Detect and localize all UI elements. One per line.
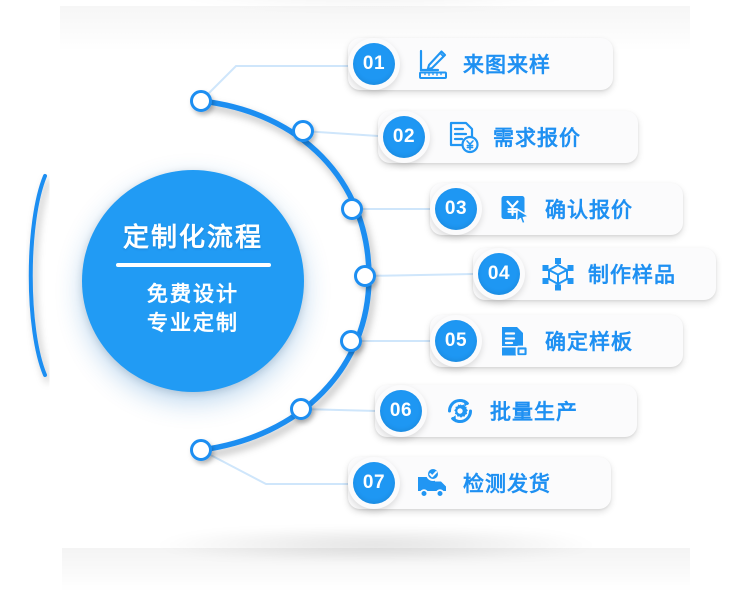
step-badge-holder: 06 xyxy=(375,385,427,437)
step-item-01[interactable]: 01来图来样 xyxy=(348,38,613,90)
hub-subtitle-line-1: 免费设计 xyxy=(147,281,239,309)
step-item-02[interactable]: 02需求报价 xyxy=(378,111,638,163)
step-badge-holder: 05 xyxy=(430,315,482,367)
arc-node-01 xyxy=(192,92,211,111)
step-pill[interactable]: 04制作样品 xyxy=(473,248,716,300)
cube-network-icon xyxy=(541,257,575,291)
pencil-ruler-icon xyxy=(416,47,450,81)
step-number-badge: 02 xyxy=(383,116,425,158)
arc-node-05 xyxy=(342,332,361,351)
step-label: 确认报价 xyxy=(545,194,633,224)
step-item-05[interactable]: 05确定样板 xyxy=(430,315,683,367)
step-item-07[interactable]: 07检测发货 xyxy=(348,457,611,509)
step-pill-body: 需求报价 xyxy=(424,111,607,163)
template-file-icon xyxy=(498,324,532,358)
hub-subtitle-line-2: 专业定制 xyxy=(147,310,239,338)
hub-title: 定制化流程 xyxy=(123,224,263,250)
process-hub: 定制化流程 免费设计 专业定制 xyxy=(82,170,304,392)
step-pill[interactable]: 07检测发货 xyxy=(348,457,611,509)
step-pill[interactable]: 01来图来样 xyxy=(348,38,613,90)
step-number-badge: 03 xyxy=(435,188,477,230)
step-label: 来图来样 xyxy=(463,49,551,79)
yuan-cursor-icon xyxy=(498,192,532,226)
step-label: 批量生产 xyxy=(490,396,578,426)
connector-line-01 xyxy=(201,66,352,101)
arc-node-02 xyxy=(294,122,313,141)
arc-node-03 xyxy=(343,200,362,219)
step-pill-body: 确定样板 xyxy=(476,315,659,367)
connector-line-04 xyxy=(365,274,473,276)
step-label: 检测发货 xyxy=(463,468,551,498)
step-pill[interactable]: 02需求报价 xyxy=(378,111,638,163)
step-label: 制作样品 xyxy=(588,259,676,289)
hub-divider xyxy=(116,263,271,267)
step-label: 需求报价 xyxy=(493,122,581,152)
step-pill-body: 检测发货 xyxy=(394,457,577,509)
step-number-badge: 04 xyxy=(478,253,520,295)
step-item-03[interactable]: 03确认报价 xyxy=(430,183,683,235)
step-item-06[interactable]: 06批量生产 xyxy=(375,385,637,437)
truck-check-icon xyxy=(416,466,450,500)
infographic-canvas: 定制化流程 免费设计 专业定制 01来图来样02需求报价03确认报价04制作样品… xyxy=(0,0,750,607)
step-number-badge: 05 xyxy=(435,320,477,362)
step-pill-body: 来图来样 xyxy=(394,38,577,90)
connector-line-07 xyxy=(201,450,352,484)
step-number-badge: 01 xyxy=(353,43,395,85)
left-accent-arc xyxy=(31,176,45,375)
arc-node-06 xyxy=(292,400,311,419)
step-pill-body: 制作样品 xyxy=(519,248,702,300)
step-badge-holder: 04 xyxy=(473,248,525,300)
step-pill[interactable]: 05确定样板 xyxy=(430,315,683,367)
gear-cycle-icon xyxy=(443,394,477,428)
step-item-04[interactable]: 04制作样品 xyxy=(473,248,716,300)
step-number-badge: 06 xyxy=(380,390,422,432)
step-pill-body: 确认报价 xyxy=(476,183,659,235)
step-badge-holder: 01 xyxy=(348,38,400,90)
arc-node-07 xyxy=(192,441,211,460)
step-badge-holder: 07 xyxy=(348,457,400,509)
step-badge-holder: 03 xyxy=(430,183,482,235)
connector-line-06 xyxy=(301,409,377,411)
step-number-badge: 07 xyxy=(353,462,395,504)
document-yuan-icon xyxy=(446,120,480,154)
step-label: 确定样板 xyxy=(545,326,633,356)
step-pill[interactable]: 03确认报价 xyxy=(430,183,683,235)
arc-node-04 xyxy=(356,267,375,286)
connector-line-02 xyxy=(303,131,378,136)
step-pill[interactable]: 06批量生产 xyxy=(375,385,637,437)
step-pill-body: 批量生产 xyxy=(421,385,604,437)
step-badge-holder: 02 xyxy=(378,111,430,163)
